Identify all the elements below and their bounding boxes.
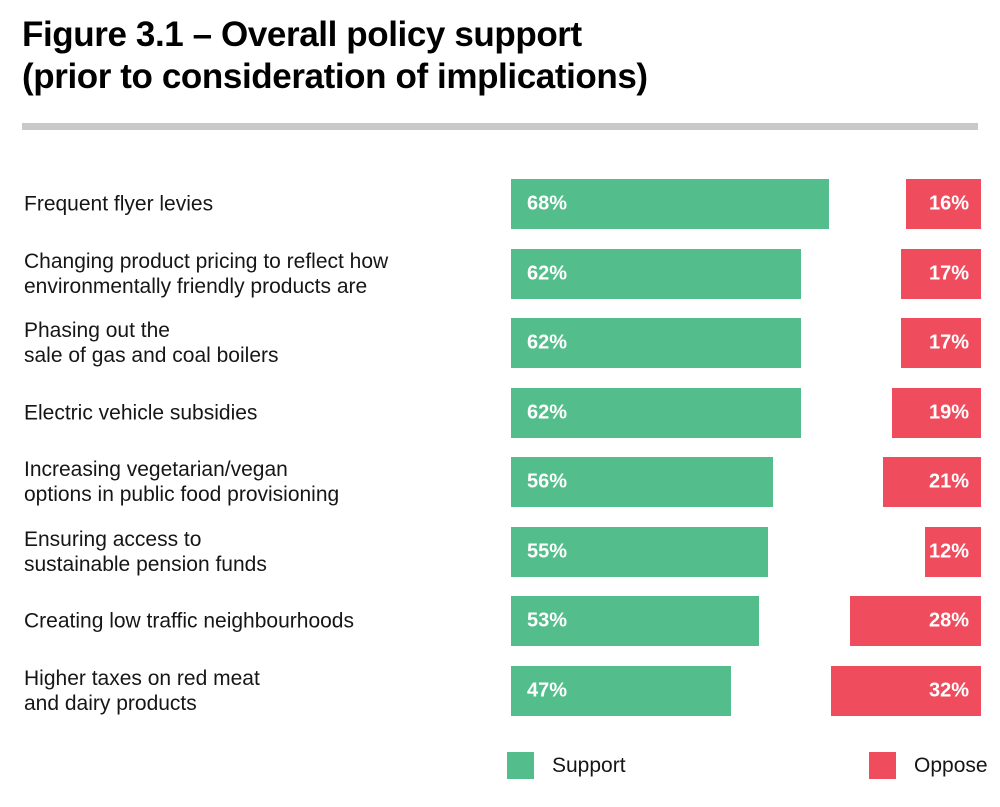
oppose-bar[interactable]: 32% xyxy=(831,666,981,716)
legend-item-support[interactable]: Support xyxy=(507,752,626,779)
chart-row: Higher taxes on red meat and dairy produ… xyxy=(0,663,1000,719)
oppose-bar-value: 19% xyxy=(929,401,969,424)
chart-legend: Support Oppose xyxy=(0,752,1000,792)
row-category-label: Frequent flyer levies xyxy=(24,192,494,217)
oppose-bar-value: 16% xyxy=(929,193,969,216)
support-bar[interactable]: 62% xyxy=(511,388,801,438)
row-category-label: Ensuring access to sustainable pension f… xyxy=(24,527,494,577)
page-title: Figure 3.1 – Overall policy support (pri… xyxy=(22,14,978,98)
support-bar[interactable]: 47% xyxy=(511,666,731,716)
bar-chart: Frequent flyer levies68%16%Changing prod… xyxy=(0,176,1000,736)
legend-swatch-support-icon xyxy=(507,752,534,779)
oppose-bar-value: 17% xyxy=(929,332,969,355)
support-bar-value: 47% xyxy=(527,679,567,702)
support-bar-value: 56% xyxy=(527,471,567,494)
support-bar[interactable]: 62% xyxy=(511,318,801,368)
support-bar-value: 55% xyxy=(527,540,567,563)
support-bar[interactable]: 53% xyxy=(511,596,759,646)
row-category-label: Creating low traffic neighbourhoods xyxy=(24,609,494,634)
support-bar-value: 53% xyxy=(527,610,567,633)
page-title-line-1: Figure 3.1 – Overall policy support xyxy=(22,14,978,56)
oppose-bar-value: 28% xyxy=(929,610,969,633)
support-bar[interactable]: 68% xyxy=(511,179,829,229)
support-bar-value: 62% xyxy=(527,262,567,285)
oppose-bar-value: 17% xyxy=(929,262,969,285)
oppose-bar[interactable]: 19% xyxy=(892,388,981,438)
oppose-bar[interactable]: 17% xyxy=(901,318,981,368)
oppose-bar-value: 12% xyxy=(929,540,969,563)
legend-item-oppose[interactable]: Oppose xyxy=(869,752,988,779)
oppose-bar[interactable]: 28% xyxy=(850,596,981,646)
oppose-bar-value: 32% xyxy=(929,679,969,702)
support-bar[interactable]: 56% xyxy=(511,457,773,507)
legend-label-support: Support xyxy=(552,754,626,778)
oppose-bar[interactable]: 12% xyxy=(925,527,981,577)
oppose-bar-value: 21% xyxy=(929,471,969,494)
chart-row: Ensuring access to sustainable pension f… xyxy=(0,524,1000,580)
support-bar-value: 62% xyxy=(527,401,567,424)
legend-swatch-oppose-icon xyxy=(869,752,896,779)
row-category-label: Increasing vegetarian/vegan options in p… xyxy=(24,457,494,507)
row-category-label: Changing product pricing to reflect how … xyxy=(24,249,494,299)
support-bar-value: 62% xyxy=(527,332,567,355)
figure-page: Figure 3.1 – Overall policy support (pri… xyxy=(0,0,1000,807)
chart-row: Electric vehicle subsidies62%19% xyxy=(0,385,1000,441)
legend-label-oppose: Oppose xyxy=(914,754,988,778)
oppose-bar[interactable]: 17% xyxy=(901,249,981,299)
oppose-bar[interactable]: 16% xyxy=(906,179,981,229)
chart-row: Phasing out the sale of gas and coal boi… xyxy=(0,315,1000,371)
support-bar[interactable]: 55% xyxy=(511,527,768,577)
page-title-line-2: (prior to consideration of implications) xyxy=(22,56,978,98)
chart-row: Increasing vegetarian/vegan options in p… xyxy=(0,454,1000,510)
support-bar-value: 68% xyxy=(527,193,567,216)
row-category-label: Phasing out the sale of gas and coal boi… xyxy=(24,318,494,368)
oppose-bar[interactable]: 21% xyxy=(883,457,981,507)
row-category-label: Higher taxes on red meat and dairy produ… xyxy=(24,666,494,716)
title-divider xyxy=(22,123,978,130)
chart-row: Changing product pricing to reflect how … xyxy=(0,246,1000,302)
chart-row: Creating low traffic neighbourhoods53%28… xyxy=(0,593,1000,649)
support-bar[interactable]: 62% xyxy=(511,249,801,299)
chart-row: Frequent flyer levies68%16% xyxy=(0,176,1000,232)
row-category-label: Electric vehicle subsidies xyxy=(24,400,494,425)
